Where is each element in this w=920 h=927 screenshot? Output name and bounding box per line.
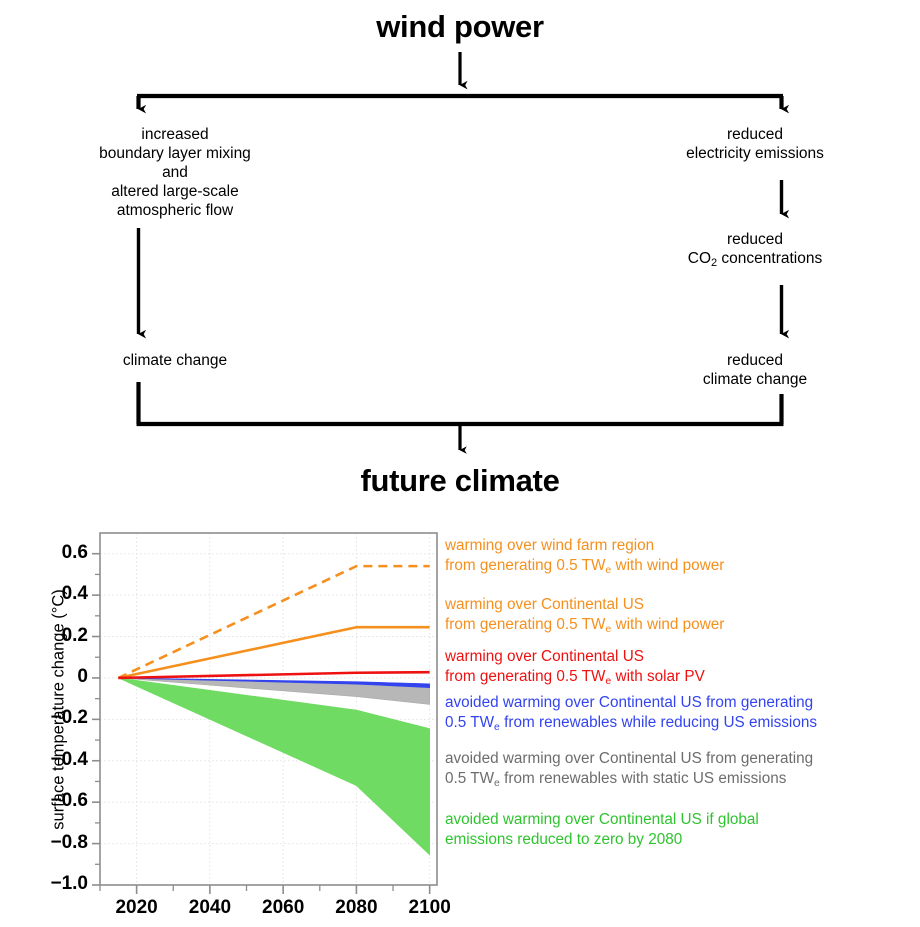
legend-line2-post: from renewables while reducing US emissi… xyxy=(500,714,817,731)
legend-entry-line2: from generating 0.5 TWe with wind power xyxy=(445,615,724,637)
legend-entry: warming over Continental USfrom generati… xyxy=(445,647,705,689)
legend-line2-post: from renewables with static US emissions xyxy=(500,770,787,787)
x-tick-label: 2020 xyxy=(102,897,172,919)
legend-entry-line1: avoided warming over Continental US from… xyxy=(445,693,817,713)
x-tick-label: 2040 xyxy=(175,897,245,919)
flowchart-node-climate-change: climate change xyxy=(25,352,325,371)
legend-entry-line2: 0.5 TWe from renewables while reducing U… xyxy=(445,713,817,735)
legend-entry: warming over Continental USfrom generati… xyxy=(445,595,724,637)
legend-entry-line1: avoided warming over Continental US from… xyxy=(445,749,813,769)
flowchart-node-reduced-electricity-emissions: reduced electricity emissions xyxy=(620,126,890,164)
x-tick-label: 2060 xyxy=(248,897,318,919)
y-tick-label: −0.2 xyxy=(24,707,88,729)
y-tick-label: −0.4 xyxy=(24,749,88,771)
legend-line2-pre: from generating 0.5 TW xyxy=(445,616,605,633)
legend-entry: avoided warming over Continental US from… xyxy=(445,693,817,735)
flowchart-node-increased-mixing: increased boundary layer mixing and alte… xyxy=(25,126,325,221)
legend-entry-line2: from generating 0.5 TWe with wind power xyxy=(445,556,724,578)
legend-line2-pre: 0.5 TW xyxy=(445,770,494,787)
legend-entry: warming over wind farm regionfrom genera… xyxy=(445,536,724,578)
legend-line2-pre: from generating 0.5 TW xyxy=(445,557,605,574)
reduced-co2-text-post: concentrations xyxy=(717,250,822,267)
flowchart-node-future-climate: future climate xyxy=(310,462,610,500)
y-tick-label: −0.8 xyxy=(24,832,88,854)
legend-line2-post: with solar PV xyxy=(611,668,705,685)
flowchart-title-wind-power: wind power xyxy=(310,8,610,46)
legend-entry: avoided warming over Continental US from… xyxy=(445,749,813,791)
legend-entry-line1: avoided warming over Continental US if g… xyxy=(445,810,759,830)
flowchart-node-reduced-co2-concentrations: reduced CO2 concentrations xyxy=(620,231,890,270)
legend-entry-line1: warming over Continental US xyxy=(445,647,705,667)
legend-line2-pre: from generating 0.5 TW xyxy=(445,668,605,685)
legend-line2-post: with wind power xyxy=(611,616,724,633)
flowchart-node-reduced-climate-change: reduced climate change xyxy=(620,352,890,390)
y-tick-label: −1.0 xyxy=(24,873,88,895)
legend-entry-line2: 0.5 TWe from renewables with static US e… xyxy=(445,769,813,791)
legend-line2-pre: 0.5 TW xyxy=(445,714,494,731)
y-tick-label: 0.6 xyxy=(24,542,88,564)
legend-entry-line2: from generating 0.5 TWe with solar PV xyxy=(445,667,705,689)
y-tick-label: 0 xyxy=(24,666,88,688)
legend-entry-line1: warming over Continental US xyxy=(445,595,724,615)
flowchart-diagram: wind power increased boundary layer mixi… xyxy=(0,0,920,520)
legend-line2-post: with wind power xyxy=(611,557,724,574)
x-tick-label: 2080 xyxy=(321,897,391,919)
legend-entry-line1: warming over wind farm region xyxy=(445,536,724,556)
legend-entry: avoided warming over Continental US if g… xyxy=(445,810,759,852)
chart-figure: surface temperature change (°C) 0.60.40.… xyxy=(0,520,920,927)
legend-line2-pre: emissions reduced to zero by 2080 xyxy=(445,831,682,848)
y-tick-label: −0.6 xyxy=(24,790,88,812)
y-tick-label: 0.4 xyxy=(24,583,88,605)
y-tick-label: 0.2 xyxy=(24,625,88,647)
x-tick-label: 2100 xyxy=(395,897,465,919)
legend-entry-line2: emissions reduced to zero by 2080 xyxy=(445,830,759,852)
